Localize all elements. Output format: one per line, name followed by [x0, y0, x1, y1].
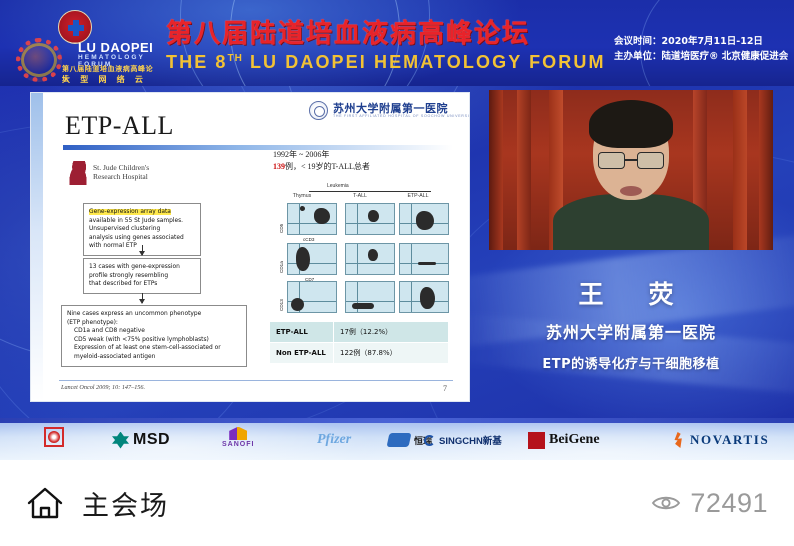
- venue-label: 主会场: [82, 484, 169, 523]
- phenotype-bullet-2: CD5 weak (with <75% positive lymphoblast…: [67, 336, 241, 345]
- speaker-mouth: [620, 186, 642, 196]
- sponsor-logo-1[interactable]: [44, 427, 64, 447]
- banner-title-en-post: LU DAOPEI HEMATOLOGY FORUM: [243, 52, 606, 72]
- view-counter: 72491: [651, 488, 768, 519]
- study-count: 139: [273, 162, 285, 171]
- speaker-body: [553, 194, 709, 250]
- flow-cell-r3c3: [399, 281, 449, 313]
- banner-title-cn: 第八届陆道培血液病高峰论坛: [166, 13, 606, 50]
- bottom-bar-left[interactable]: 主会场: [26, 484, 169, 523]
- dna-ring-icon: [16, 38, 62, 82]
- broadcast-page: LU DAOPEI HEMATOLOGY FORUM 第八届陆道培血液病高峰论坛…: [0, 0, 794, 546]
- table-row: ETP-ALL 17例（12.2%）: [270, 322, 449, 343]
- flow-box-2-line-3: that described for ETPs: [89, 281, 157, 287]
- speaker-info: 王 荧 苏州大学附属第一医院 ETP的诱导化疗与干细胞移植: [489, 275, 773, 372]
- flow-column-etpall: ETP-ALL: [391, 193, 445, 199]
- sponsor-bar: MSD SANOFI Pfizer 恒瑞 SINGCHN新基 BeiGene: [0, 418, 794, 460]
- flow-cell-r1c2: [345, 203, 395, 235]
- sponsor-logo-sanofi[interactable]: SANOFI: [222, 427, 254, 453]
- flow-column-tall: T-ALL: [333, 193, 387, 199]
- banner-title-en-pre: THE 8: [166, 52, 228, 72]
- slide-citation: Lancet Oncol 2009; 10: 147–156.: [61, 384, 145, 391]
- stjude-logo: St. Jude Children's Research Hospital: [67, 161, 227, 187]
- novartis-icon: [672, 432, 686, 448]
- results-table: ETP-ALL 17例（12.2%） Non ETP-ALL 122例（87.8…: [269, 321, 449, 364]
- flow-cell-r2c2: [345, 243, 395, 275]
- row-label-etp-all: ETP-ALL: [270, 322, 334, 343]
- flow-box-1-highlight: Gene-expression array data: [89, 209, 171, 215]
- flow-cytometry-panel: Leukemia Thymus T-ALL ETP-ALL CD5: [271, 183, 449, 311]
- flow-box-2-line-2: profile strongly resembling: [89, 273, 168, 279]
- singchn-icon: [424, 435, 435, 446]
- curtain-fold: [517, 90, 531, 250]
- phenotype-box: Nine cases express an uncommon phenotype…: [61, 305, 247, 367]
- flow-box-2-line-1: 13 cases with gene-expression: [89, 264, 180, 270]
- sponsor-sanofi-label: SANOFI: [222, 441, 254, 448]
- home-icon[interactable]: [26, 486, 64, 520]
- flow-arrow-1-icon: [142, 245, 143, 255]
- flow-cell-r2c3: [399, 243, 449, 275]
- row-value-non-etp-all: 122例（87.8%）: [334, 343, 449, 364]
- sponsor-msd-label: MSD: [133, 431, 170, 449]
- hospital-logo: 苏州大学附属第一医院 THE FIRST AFFILIATED HOSPITAL…: [309, 99, 457, 123]
- bottom-bar: 主会场 72491: [0, 460, 794, 546]
- flow-cell-r1c1: [287, 203, 337, 235]
- eye-icon: [651, 493, 681, 513]
- flow-yaxis-cd5: CD5: [279, 224, 284, 233]
- flow-yaxis-cd1a: CD1a: [279, 261, 284, 273]
- stjude-line2: Research Hospital: [93, 172, 148, 181]
- sponsor-logo-beigene[interactable]: BeiGene: [528, 427, 600, 453]
- speaker-topic: ETP的诱导化疗与干细胞移植: [489, 353, 773, 372]
- flow-xaxis-ccd3: cCD3: [303, 237, 315, 242]
- flow-yaxis-cd13: CD13: [279, 299, 284, 311]
- study-desc: < 19岁的T-ALL总者: [301, 162, 370, 171]
- sponsor-1-icon: [48, 431, 60, 443]
- flow-box-2: 13 cases with gene-expression profile st…: [83, 258, 201, 294]
- sanofi-icon: [229, 427, 247, 440]
- flow-box-1-line-2: Unsupervised clustering: [89, 226, 160, 232]
- flow-arrow-2-icon: [142, 293, 143, 303]
- logo-name-en: LU DAOPEI: [78, 40, 153, 55]
- stage-background: LU DAOPEI HEMATOLOGY FORUM 第八届陆道培血液病高峰论坛…: [0, 0, 794, 460]
- sponsor-logo-pfizer[interactable]: Pfizer: [317, 427, 351, 453]
- study-meta: 1992年 ~ 2006年 139例，< 19岁的T-ALL总者: [273, 149, 370, 173]
- sponsor-pfizer-label: Pfizer: [317, 432, 351, 448]
- event-banner: LU DAOPEI HEMATOLOGY FORUM 第八届陆道培血液病高峰论坛…: [0, 0, 794, 86]
- flow-grid: CD5 cCD3 CD: [281, 203, 449, 311]
- view-count-value: 72491: [690, 488, 768, 519]
- phenotype-bullet-1: CD1a and CD8 negative: [67, 327, 241, 336]
- study-cohort: 139例，< 19岁的T-ALL总者: [273, 161, 370, 173]
- forum-logo: LU DAOPEI HEMATOLOGY FORUM 第八届陆道培血液病高峰论坛…: [14, 8, 154, 82]
- hospital-logo-en: THE FIRST AFFILIATED HOSPITAL OF SOOCHOW…: [333, 114, 470, 118]
- slide-title-rule: [63, 145, 453, 150]
- phenotype-bullet-3: Expression of at least one stem-cell-ass…: [67, 344, 241, 353]
- banner-title-en: THE 8TH LU DAOPEI HEMATOLOGY FORUM: [166, 52, 616, 73]
- speaker-hair: [589, 100, 673, 148]
- flow-column-thymus: Thymus: [275, 193, 329, 199]
- slide-left-band: [31, 93, 43, 401]
- row-value-etp-all: 17例（12.2%）: [334, 322, 449, 343]
- row-label-non-etp-all: Non ETP-ALL: [270, 343, 334, 364]
- slide-page-number: 7: [443, 384, 447, 393]
- phenotype-line-2: (ETP phenotype):: [67, 320, 118, 326]
- meeting-host: 主办单位：陆道培医疗® 北京健康促进会: [614, 49, 786, 64]
- curtain-fold: [759, 90, 773, 250]
- banner-meta: 会议时间：2020年7月11日-12日 主办单位：陆道培医疗® 北京健康促进会: [614, 34, 786, 64]
- flow-group-label: Leukemia: [327, 183, 349, 189]
- flow-cell-r1c3: [399, 203, 449, 235]
- curtain-fold: [733, 90, 747, 250]
- speaker-video[interactable]: [489, 90, 773, 250]
- speaker-name: 王 荧: [489, 275, 773, 311]
- citation-rule: [59, 380, 453, 381]
- flow-cell-r3c1: [287, 281, 337, 313]
- flow-group-rule: [309, 191, 431, 192]
- sponsor-bar-topline: [0, 418, 794, 423]
- table-row: Non ETP-ALL 122例（87.8%）: [270, 343, 449, 364]
- curtain-fold: [489, 90, 503, 250]
- study-count-unit: 例，: [285, 162, 301, 171]
- phenotype-line-1: Nine cases express an uncommon phenotype: [67, 311, 201, 317]
- logo-cn-line2: 大 型 网 络 云 会 议: [62, 74, 154, 86]
- flow-box-1-line-1: available in 55 St Jude samples.: [89, 218, 183, 224]
- sponsor-logo-msd[interactable]: MSD: [112, 427, 170, 453]
- sponsor-singchn-label: SINGCHN新基: [439, 433, 502, 447]
- stjude-line1: St. Jude Children's: [93, 163, 149, 172]
- sponsor-logo-singchn[interactable]: SINGCHN新基: [424, 427, 502, 453]
- presentation-slide[interactable]: ETP-ALL 苏州大学附属第一医院 THE FIRST AFFILIATED …: [30, 92, 470, 402]
- sponsor-logo-novartis[interactable]: NOVARTIS: [672, 427, 769, 453]
- flow-box-1-line-4: with normal ETP: [89, 243, 137, 249]
- flow-cell-r3c2: [345, 281, 395, 313]
- banner-title-en-sup: TH: [228, 53, 243, 64]
- flow-cell-r2c1: [287, 243, 337, 275]
- speaker-organization: 苏州大学附属第一医院: [489, 319, 773, 343]
- flow-box-1-line-3: analysis using genes associated: [89, 235, 184, 241]
- meeting-time: 会议时间：2020年7月11日-12日: [614, 34, 786, 49]
- stjude-mark-icon: [67, 161, 89, 185]
- msd-icon: [112, 432, 129, 449]
- sponsor-novartis-label: NOVARTIS: [690, 432, 769, 448]
- hengrui-icon: [387, 433, 412, 447]
- phenotype-bullet-4: myeloid-associated antigen: [67, 353, 241, 362]
- medical-cross-icon: [58, 10, 92, 44]
- study-period: 1992年 ~ 2006年: [273, 149, 370, 161]
- slide-title: ETP-ALL: [65, 111, 174, 141]
- sponsor-beigene-label: BeiGene: [549, 432, 600, 448]
- glasses-icon: [598, 152, 664, 169]
- beigene-icon: [528, 432, 545, 449]
- hospital-seal-icon: [309, 101, 328, 120]
